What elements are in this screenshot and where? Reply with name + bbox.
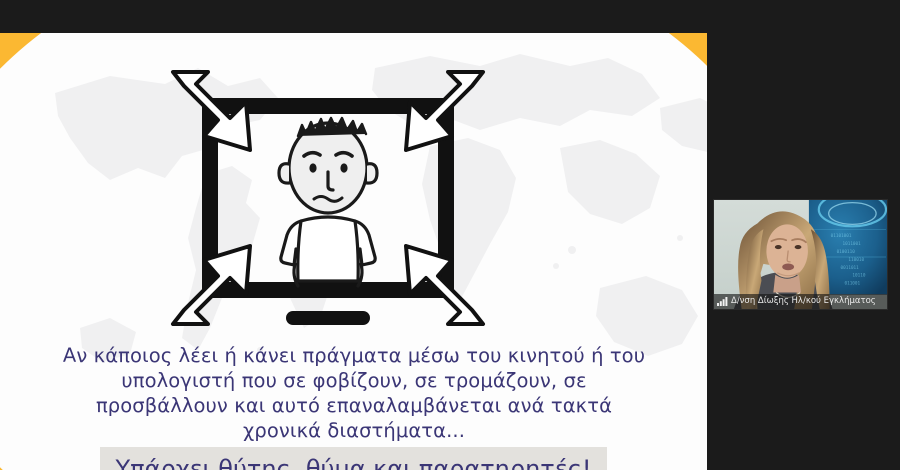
svg-text:0011011: 0011011	[841, 265, 860, 271]
svg-text:10110: 10110	[852, 273, 865, 279]
svg-text:01101001: 01101001	[831, 233, 852, 239]
meeting-stage: Αν κάποιος λέει ή κάνει πράγματα μέσω το…	[0, 0, 900, 470]
body-line-3: προσβάλλουν και αυτό επαναλαμβάνεται ανά…	[44, 393, 664, 418]
participant-name-bar: Δ/νση Δίωξης Ηλ/κού Εγκλήματος	[714, 294, 887, 309]
body-line-4: χρονικά διαστήματα...	[44, 418, 664, 443]
webcam-video-feed: 01101001 1011001 0100110 110010 0011011 …	[714, 200, 887, 309]
body-line-2: υπολογιστή που σε φοβίζουν, σε τρομάζουν…	[44, 368, 664, 393]
arrow-top-right	[406, 72, 483, 150]
svg-text:110010: 110010	[848, 257, 864, 263]
arrow-bottom-right	[406, 246, 483, 324]
signal-bars-icon	[717, 297, 728, 306]
boy-figure	[279, 118, 377, 286]
svg-text:1011001: 1011001	[843, 241, 862, 247]
svg-text:0100110: 0100110	[837, 249, 856, 255]
shared-slide[interactable]: Αν κάποιος λέει ή κάνει πράγματα μέσω το…	[0, 33, 707, 470]
callout-container: Υπάρχει θύτης, θύμα και παρατηρητές!	[0, 447, 707, 470]
slide-body-text: Αν κάποιος λέει ή κάνει πράγματα μέσω το…	[44, 343, 664, 443]
body-line-1: Αν κάποιος λέει ή κάνει πράγματα μέσω το…	[44, 343, 664, 368]
boy-in-monitor-illustration	[168, 68, 488, 333]
callout-highlight-text: Υπάρχει θύτης, θύμα και παρατηρητές!	[100, 447, 608, 470]
participant-name-label: Δ/νση Δίωξης Ηλ/κού Εγκλήματος	[731, 294, 876, 309]
svg-text:011001: 011001	[844, 281, 860, 287]
arrow-top-left	[173, 72, 250, 150]
participant-video-tile[interactable]: 01101001 1011001 0100110 110010 0011011 …	[713, 199, 888, 310]
arrow-bottom-left	[173, 246, 250, 324]
